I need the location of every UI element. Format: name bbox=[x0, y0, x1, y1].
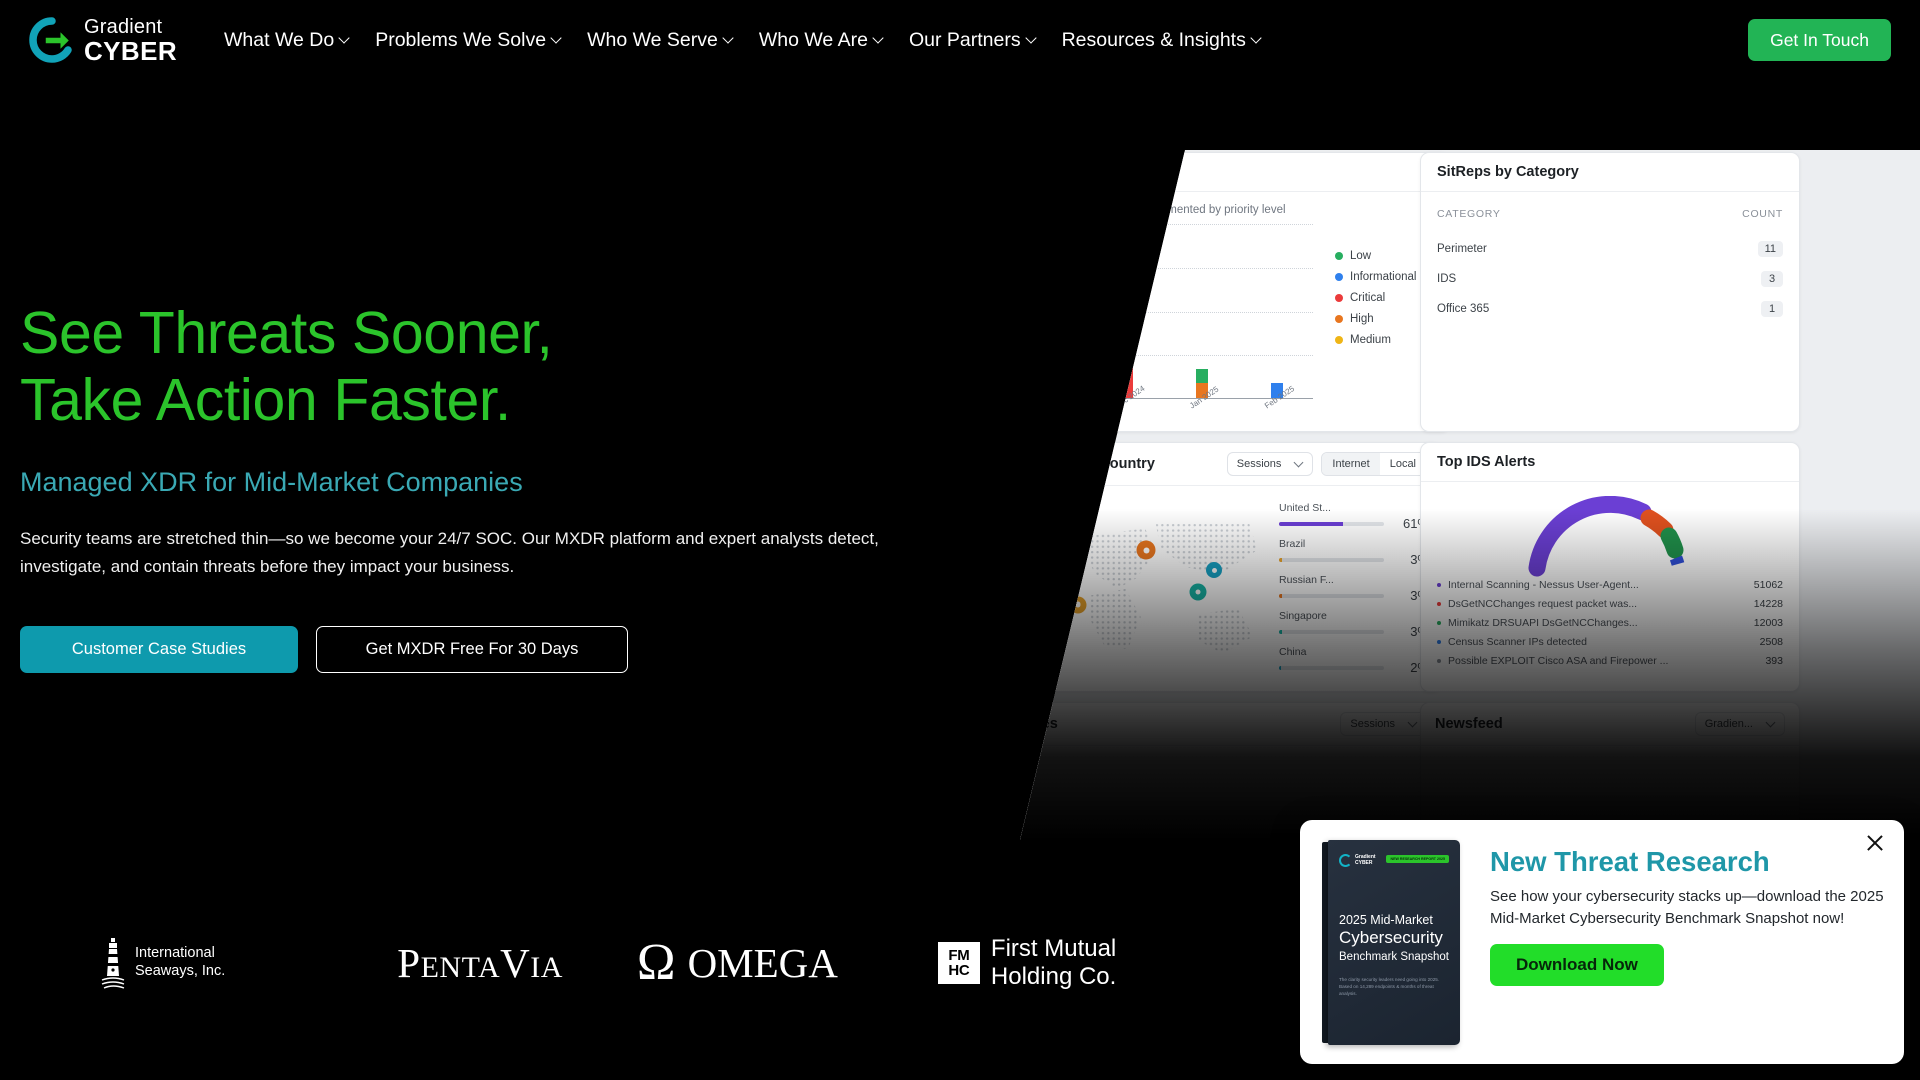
country-bar bbox=[1279, 558, 1384, 562]
bar-segment-low bbox=[1196, 369, 1208, 384]
nav-item-who-we-are[interactable]: Who We Are bbox=[759, 29, 883, 52]
toggle-internet[interactable]: Internet bbox=[1322, 453, 1379, 475]
book-title: 2025 Mid-Market Cybersecurity Benchmark … bbox=[1339, 913, 1449, 963]
lighthouse-icon bbox=[100, 936, 126, 990]
country-list: United St... 61% Brazil 3% Russian F... … bbox=[1279, 496, 1429, 651]
chevron-down-icon bbox=[1295, 460, 1303, 468]
sessions-select[interactable]: Sessions bbox=[1227, 452, 1314, 476]
map-pin-singapore[interactable] bbox=[1190, 584, 1207, 601]
panel-title: Survey Scores bbox=[1020, 716, 1058, 732]
select-value: Sessions bbox=[1237, 458, 1282, 470]
popup-content: New Threat Research See how your cyberse… bbox=[1470, 836, 1884, 1048]
nav-label: Our Partners bbox=[909, 29, 1021, 52]
fmhc-badge-icon: FM HC bbox=[938, 942, 980, 984]
table-row: IDS 3 bbox=[1437, 264, 1783, 294]
legend-item-high: High bbox=[1335, 313, 1416, 325]
gridline bbox=[1020, 268, 1313, 269]
client-logo-omega: Ω OMEGA bbox=[637, 939, 838, 987]
country-item-china: China 2% bbox=[1279, 646, 1429, 675]
legend-swatch bbox=[1335, 273, 1343, 281]
bullet-icon bbox=[1437, 621, 1441, 625]
book-face: Gradient CYBER NEW RESEARCH REPORT 2025 … bbox=[1328, 840, 1460, 1045]
map-canvas bbox=[1020, 496, 1279, 651]
book-title-line-2: Cybersecurity bbox=[1339, 928, 1449, 948]
country-name: United St... bbox=[1279, 502, 1429, 514]
ebook-cover-image: Gradient CYBER NEW RESEARCH REPORT 2025 … bbox=[1320, 836, 1470, 1048]
sessions-select[interactable]: Sessions bbox=[1340, 712, 1427, 736]
bullet-icon bbox=[1437, 640, 1441, 644]
country-bar bbox=[1279, 630, 1384, 634]
panel-header: Newsfeed Gradien... bbox=[1421, 703, 1799, 746]
chevron-down-icon bbox=[1409, 720, 1417, 728]
count-badge: 11 bbox=[1758, 241, 1783, 257]
map-pin-china[interactable] bbox=[1206, 562, 1222, 578]
book-logo-text: Gradient CYBER bbox=[1355, 855, 1376, 866]
select-value: Sessions bbox=[1350, 718, 1395, 730]
panel-header: Top Connections by Country Sessions Inte… bbox=[1020, 443, 1441, 486]
country-item-russian-federation: Russian F... 3% bbox=[1279, 574, 1429, 603]
panel-title: Top Connections by Country bbox=[1020, 456, 1155, 472]
panel-header: Top IDS Alerts bbox=[1421, 443, 1799, 482]
count-badge: 1 bbox=[1761, 301, 1783, 317]
x-axis-tick: Nov 2024 bbox=[1038, 384, 1071, 411]
map-pin-brazil[interactable] bbox=[1070, 596, 1087, 613]
get-in-touch-button[interactable]: Get In Touch bbox=[1748, 19, 1891, 61]
bar-segment-low bbox=[1121, 252, 1133, 267]
client-name-line-2: Seaways, Inc. bbox=[135, 963, 225, 981]
logo-line-1: Gradient bbox=[84, 17, 177, 37]
nav-label: What We Do bbox=[224, 29, 334, 52]
headline-line-2: Take Action Faster. bbox=[20, 367, 511, 433]
country-bar bbox=[1279, 522, 1384, 526]
download-now-button[interactable]: Download Now bbox=[1490, 944, 1664, 986]
col-count: COUNT bbox=[1648, 204, 1783, 234]
page-title: See Threats Sooner, Take Action Faster. bbox=[20, 300, 980, 433]
nav-label: Problems We Solve bbox=[375, 29, 546, 52]
country-item-united-states: United St... 61% bbox=[1279, 502, 1429, 531]
legend-swatch bbox=[1335, 336, 1343, 344]
alert-text: Possible EXPLOIT Cisco ASA and Firepower… bbox=[1448, 655, 1758, 667]
alert-text: Mimikatz DRSUAPI DsGetNCChanges... bbox=[1448, 617, 1747, 629]
gradient-cyber-logo-icon bbox=[1339, 854, 1352, 867]
client-logo-pentavia: PENTAVIA bbox=[397, 939, 563, 987]
country-item-brazil: Brazil 3% bbox=[1279, 538, 1429, 567]
alert-text: Internal Scanning - Nessus User-Agent... bbox=[1448, 579, 1747, 591]
cell-count: 3 bbox=[1648, 264, 1783, 294]
scope-toggle: Internet Local bbox=[1321, 452, 1427, 476]
bar-nov-2024 bbox=[1046, 369, 1058, 398]
map-pin-united-states[interactable] bbox=[1020, 547, 1043, 581]
panel-sitrep-trends: SitRep Trends Showing created SitRep tre… bbox=[1020, 152, 1450, 432]
bullet-icon bbox=[1437, 659, 1441, 663]
bar-segment-high bbox=[1121, 311, 1133, 340]
country-bar bbox=[1279, 666, 1384, 670]
client-name: First Mutual Holding Co. bbox=[991, 935, 1116, 991]
promo-popup: Gradient CYBER NEW RESEARCH REPORT 2025 … bbox=[1300, 820, 1904, 1064]
country-item-singapore: Singapore 3% bbox=[1279, 610, 1429, 639]
client-name: PENTAVIA bbox=[397, 939, 563, 987]
client-name-line-2: Holding Co. bbox=[991, 963, 1116, 991]
country-name: Singapore bbox=[1279, 610, 1429, 622]
chevron-down-icon bbox=[724, 34, 733, 43]
panel-header: SitReps by Category bbox=[1421, 153, 1799, 192]
legend-item-low: Low bbox=[1335, 250, 1416, 262]
panel-sitreps-by-category: SitReps by Category CATEGORY COUNT Perim… bbox=[1420, 152, 1800, 432]
bar-segment-critical bbox=[1121, 340, 1133, 398]
cell-count: 1 bbox=[1648, 294, 1783, 324]
headline-line-1: See Threats Sooner, bbox=[20, 300, 553, 366]
main-nav: What We Do Problems We Solve Who We Serv… bbox=[224, 29, 1261, 52]
bar-segment-low bbox=[1046, 383, 1058, 398]
badge-line-1: FM bbox=[948, 948, 969, 963]
bar-segment-informational bbox=[1046, 369, 1058, 384]
panel-body: Showing created SitRep trends segmented … bbox=[1020, 192, 1449, 426]
panel-title: Top IDS Alerts bbox=[1437, 454, 1783, 470]
dotted-world-map-icon bbox=[1020, 496, 1279, 674]
list-item: DsGetNCChanges request packet was... 142… bbox=[1437, 598, 1783, 610]
gradient-select[interactable]: Gradien... bbox=[1695, 712, 1785, 736]
legend-swatch bbox=[1335, 315, 1343, 323]
hero-paragraph: Security teams are stretched thin—so we … bbox=[20, 525, 920, 580]
client-name-line-1: International bbox=[135, 945, 225, 963]
nav-label: Resources & Insights bbox=[1062, 29, 1246, 52]
nav-label: Who We Serve bbox=[587, 29, 718, 52]
gridline bbox=[1020, 312, 1313, 313]
gridline bbox=[1020, 224, 1313, 225]
client-name: International Seaways, Inc. bbox=[135, 945, 225, 980]
logo-line-2: CYBER bbox=[84, 38, 177, 64]
panel-body: Internal Scanning - Nessus User-Agent...… bbox=[1421, 482, 1799, 686]
bar-dec-2024 bbox=[1121, 252, 1133, 398]
map-pin-russian-federation[interactable] bbox=[1137, 541, 1156, 560]
panel-title: SitReps by Category bbox=[1437, 164, 1783, 180]
bar-segment-medium bbox=[1121, 267, 1133, 311]
omega-symbol-icon: Ω bbox=[637, 942, 676, 984]
alert-count: 2508 bbox=[1760, 636, 1783, 648]
table-row: Perimeter 11 bbox=[1437, 234, 1783, 264]
book-title-line-1: 2025 Mid-Market bbox=[1339, 913, 1449, 927]
alert-count: 51062 bbox=[1754, 579, 1783, 591]
book-logo-line-2: CYBER bbox=[1355, 860, 1373, 866]
select-value: Gradien... bbox=[1705, 718, 1753, 730]
chevron-down-icon bbox=[1027, 34, 1036, 43]
chevron-down-icon bbox=[1767, 720, 1775, 728]
client-logo-first-mutual-holding: FM HC First Mutual Holding Co. bbox=[938, 935, 1116, 991]
cell-count: 11 bbox=[1648, 234, 1783, 264]
book-tag: NEW RESEARCH REPORT 2025 bbox=[1386, 855, 1449, 863]
chevron-down-icon bbox=[1252, 34, 1261, 43]
chevron-down-icon bbox=[552, 34, 561, 43]
nav-item-problems-we-solve[interactable]: Problems We Solve bbox=[375, 29, 561, 52]
client-name: OMEGA bbox=[688, 939, 838, 987]
legend-label: Critical bbox=[1350, 292, 1385, 304]
category-table: CATEGORY COUNT Perimeter 11 IDS 3 bbox=[1437, 204, 1783, 324]
nav-item-resources-insights[interactable]: Resources & Insights bbox=[1062, 29, 1261, 52]
country-bar bbox=[1279, 594, 1384, 598]
legend-label: Low bbox=[1350, 250, 1371, 262]
bullet-icon bbox=[1437, 583, 1441, 587]
get-mxdr-free-button[interactable]: Get MXDR Free For 30 Days bbox=[316, 626, 628, 673]
legend-label: High bbox=[1350, 313, 1374, 325]
alert-count: 393 bbox=[1765, 655, 1783, 667]
alert-count: 14228 bbox=[1754, 598, 1783, 610]
badge-line-2: HC bbox=[948, 963, 969, 978]
list-item: Mimikatz DRSUAPI DsGetNCChanges... 12003 bbox=[1437, 617, 1783, 629]
cell-category: Perimeter bbox=[1437, 234, 1648, 264]
chevron-down-icon bbox=[874, 34, 883, 43]
list-item: Internal Scanning - Nessus User-Agent...… bbox=[1437, 579, 1783, 591]
legend-item-informational: Informational bbox=[1335, 271, 1416, 283]
chevron-down-icon bbox=[340, 34, 349, 43]
panel-header: Survey Scores Sessions bbox=[1020, 703, 1441, 746]
site-header: Gradient CYBER What We Do Problems We So… bbox=[0, 0, 1920, 80]
legend-item-medium: Medium bbox=[1335, 334, 1416, 346]
legend-label: Informational bbox=[1350, 271, 1416, 283]
client-logo-strip: International Seaways, Inc. PENTAVIA Ω O… bbox=[0, 908, 1250, 1018]
panel-title: SitRep Trends bbox=[1020, 164, 1433, 180]
client-name-line-1: First Mutual bbox=[991, 935, 1116, 963]
legend-label: Medium bbox=[1350, 334, 1391, 346]
book-title-line-3: Benchmark Snapshot bbox=[1339, 951, 1449, 963]
dashboard-screenshot: nc. Towers ity LLC ealth SitRep Trends S… bbox=[1020, 150, 1920, 840]
gridline bbox=[1020, 355, 1313, 356]
customer-case-studies-button[interactable]: Customer Case Studies bbox=[20, 626, 298, 673]
panel-top-ids-alerts: Top IDS Alerts Internal Scanning - Nessu… bbox=[1420, 442, 1800, 692]
client-logo-international-seaways: International Seaways, Inc. bbox=[100, 936, 225, 990]
alerts-donut-chart bbox=[1437, 494, 1783, 579]
alert-text: DsGetNCChanges request packet was... bbox=[1448, 598, 1747, 610]
gradient-cyber-logo-icon bbox=[27, 15, 77, 65]
popup-heading: New Threat Research bbox=[1490, 847, 1884, 877]
world-map: United St... 61% Brazil 3% Russian F... … bbox=[1020, 486, 1441, 661]
panel-controls: Sessions Internet Local bbox=[1227, 452, 1427, 476]
list-item: Possible EXPLOIT Cisco ASA and Firepower… bbox=[1437, 655, 1783, 667]
chart-legend: Low Informational Critical High bbox=[1335, 224, 1416, 414]
chart-plot-area: 036912Nov 2024Dec 2024Jan 2025Feb 2025 bbox=[1020, 224, 1313, 399]
table-header-row: CATEGORY COUNT bbox=[1437, 204, 1783, 234]
chart-subtitle: Showing created SitRep trends segmented … bbox=[1020, 204, 1433, 216]
panel-top-connections-by-country: Top Connections by Country Sessions Inte… bbox=[1020, 442, 1442, 692]
bullet-icon bbox=[1437, 602, 1441, 606]
bar-chart: 036912Nov 2024Dec 2024Jan 2025Feb 2025 L… bbox=[1020, 224, 1433, 414]
hero-subheading: Managed XDR for Mid-Market Companies bbox=[20, 467, 980, 498]
nav-item-what-we-do[interactable]: What We Do bbox=[224, 29, 349, 52]
close-icon[interactable] bbox=[1862, 830, 1888, 856]
country-name: Russian F... bbox=[1279, 574, 1429, 586]
panel-body: CATEGORY COUNT Perimeter 11 IDS 3 bbox=[1421, 192, 1799, 336]
cell-category: IDS bbox=[1437, 264, 1648, 294]
legend-swatch bbox=[1335, 252, 1343, 260]
cell-category: Office 365 bbox=[1437, 294, 1648, 324]
country-name: Brazil bbox=[1279, 538, 1429, 550]
country-name: China bbox=[1279, 646, 1429, 658]
col-category: CATEGORY bbox=[1437, 204, 1648, 234]
legend-swatch bbox=[1335, 294, 1343, 302]
panel-header: SitRep Trends bbox=[1020, 153, 1449, 192]
alert-text: Census Scanner IPs detected bbox=[1448, 636, 1753, 648]
nav-label: Who We Are bbox=[759, 29, 868, 52]
alert-count: 12003 bbox=[1754, 617, 1783, 629]
popup-body-text: See how your cybersecurity stacks up—dow… bbox=[1490, 886, 1884, 929]
alerts-list: Internal Scanning - Nessus User-Agent...… bbox=[1437, 579, 1783, 667]
nav-item-our-partners[interactable]: Our Partners bbox=[909, 29, 1036, 52]
count-badge: 3 bbox=[1761, 271, 1783, 287]
table-row: Office 365 1 bbox=[1437, 294, 1783, 324]
hero-section: See Threats Sooner, Take Action Faster. … bbox=[20, 300, 980, 673]
hero-cta-group: Customer Case Studies Get MXDR Free For … bbox=[20, 626, 980, 673]
panel-title: Newsfeed bbox=[1435, 716, 1503, 732]
book-subtitle: The clarity security leaders need going … bbox=[1339, 976, 1449, 997]
legend-item-critical: Critical bbox=[1335, 292, 1416, 304]
brand-logo[interactable]: Gradient CYBER bbox=[27, 15, 177, 65]
list-item: Census Scanner IPs detected 2508 bbox=[1437, 636, 1783, 648]
nav-item-who-we-serve[interactable]: Who We Serve bbox=[587, 29, 733, 52]
